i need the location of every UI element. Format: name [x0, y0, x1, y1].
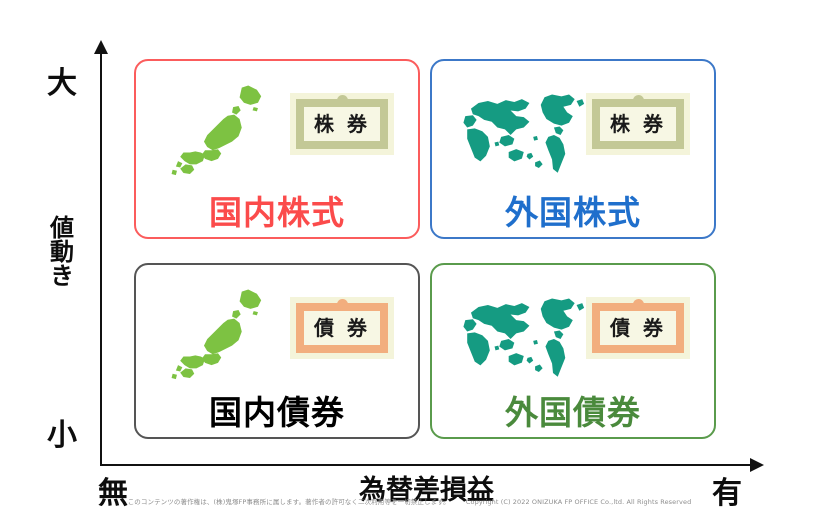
y-axis-arrowhead: [94, 40, 108, 54]
y-axis-line: [100, 52, 102, 466]
y-axis-top-label: 大: [47, 58, 77, 102]
world-map-icon: [454, 87, 586, 183]
certificate-ornament: [633, 299, 644, 310]
bond-certificate-icon: 債 券: [290, 297, 394, 359]
quadrant-title-domestic-bond: 国内債券: [136, 396, 418, 429]
certificate-label: 債 券: [314, 318, 370, 338]
certificate-plate: 債 券: [600, 311, 676, 345]
y-axis-bottom-label: 小: [47, 410, 77, 454]
certificate-plate: 株 券: [600, 107, 676, 141]
certificate-label: 株 券: [314, 114, 370, 134]
quadrant-title-domestic-equity: 国内株式: [136, 196, 418, 229]
quadrant-card-foreign-bond[interactable]: 債 券 外国債券: [430, 263, 716, 439]
stock-certificate-icon: 株 券: [586, 93, 690, 155]
x-axis-arrowhead: [750, 458, 764, 472]
copyright-footer: このコンテンツの著作権は、(株)鬼塚FP事務所に属します。著作者の許可なく二次利…: [0, 496, 819, 506]
world-map-icon: [454, 291, 586, 387]
certificate-ornament: [337, 95, 348, 106]
x-axis-line: [100, 464, 752, 466]
certificate-label: 株 券: [610, 114, 666, 134]
japan-map-icon: [164, 79, 272, 187]
bond-certificate-icon: 債 券: [586, 297, 690, 359]
certificate-ornament: [337, 299, 348, 310]
quadrant-card-domestic-equity[interactable]: 株 券 国内株式: [134, 59, 420, 239]
stock-certificate-icon: 株 券: [290, 93, 394, 155]
quadrant-card-foreign-equity[interactable]: 株 券 外国株式: [430, 59, 716, 239]
certificate-ornament: [633, 95, 644, 106]
copyright-japanese: このコンテンツの著作権は、(株)鬼塚FP事務所に属します。著作者の許可なく二次利…: [128, 498, 450, 506]
quadrant-card-domestic-bond[interactable]: 債 券 国内債券: [134, 263, 420, 439]
certificate-label: 債 券: [610, 318, 666, 338]
japan-map-icon: [164, 283, 272, 391]
quadrant-title-foreign-equity: 外国株式: [432, 196, 714, 229]
certificate-plate: 株 券: [304, 107, 380, 141]
certificate-plate: 債 券: [304, 311, 380, 345]
y-axis-title: 値動き: [47, 215, 71, 287]
quadrant-title-foreign-bond: 外国債券: [432, 396, 714, 429]
copyright-english: Copyright (C) 2022 ONIZUKA FP OFFICE Co.…: [466, 498, 691, 506]
